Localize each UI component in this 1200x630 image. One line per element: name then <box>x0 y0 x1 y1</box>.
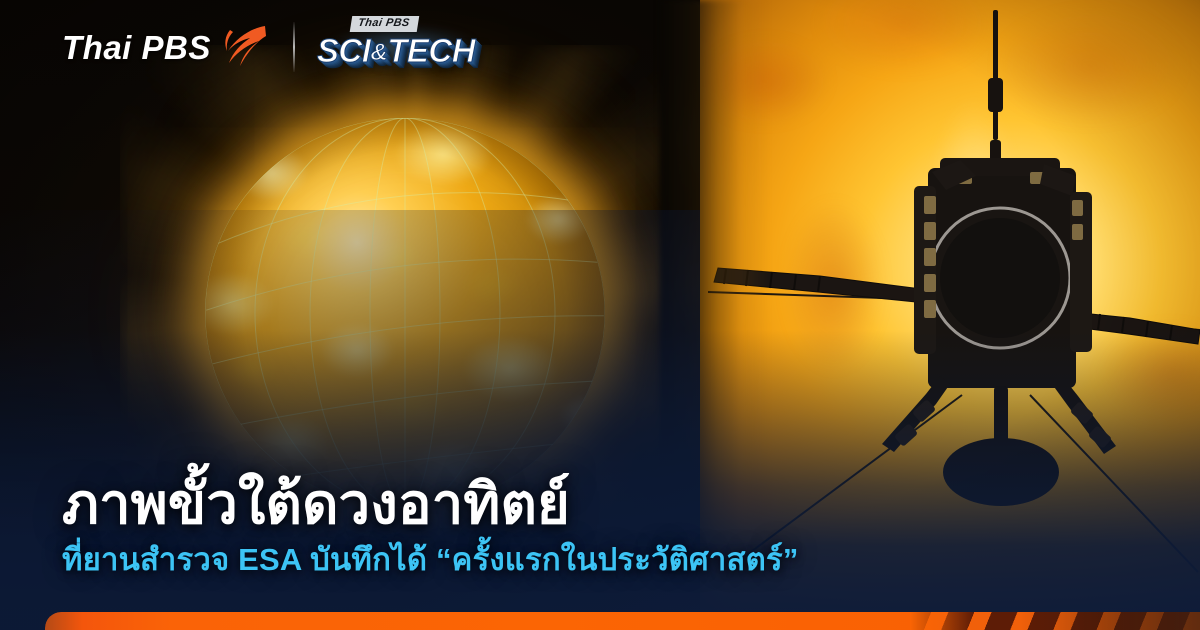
thai-pbs-logo[interactable]: Thai PBS <box>62 25 267 69</box>
ampersand-glyph: & <box>370 39 387 66</box>
page-subtitle: ที่ยานสำรวจ ESA บันทึกได้ “ครั้งแรกในประ… <box>62 542 799 578</box>
headline-block: ภาพขั้วใต้ดวงอาทิตย์ ที่ยานสำรวจ ESA บัน… <box>62 474 799 578</box>
bar-smoke-overlay <box>1020 612 1200 630</box>
sun-disc <box>205 118 605 508</box>
bottom-accent-bar <box>45 612 1200 630</box>
sci-tech-wordmark: SCI&TECH <box>317 30 475 71</box>
graphic-card: Thai PBS Thai PBS SCI&TECH ภาพขั้วใต้ดวง… <box>0 0 1200 630</box>
logo-header: Thai PBS Thai PBS SCI&TECH <box>0 0 560 94</box>
logo-divider <box>293 22 295 72</box>
tech-word: TECH <box>387 32 475 69</box>
thai-pbs-wordmark: Thai PBS <box>62 31 211 64</box>
thai-pbs-swoosh-icon <box>219 25 267 69</box>
sci-word: SCI <box>317 32 371 69</box>
sci-tech-logo[interactable]: Thai PBS SCI&TECH <box>317 16 489 78</box>
page-title: ภาพขั้วใต้ดวงอาทิตย์ <box>62 474 799 534</box>
